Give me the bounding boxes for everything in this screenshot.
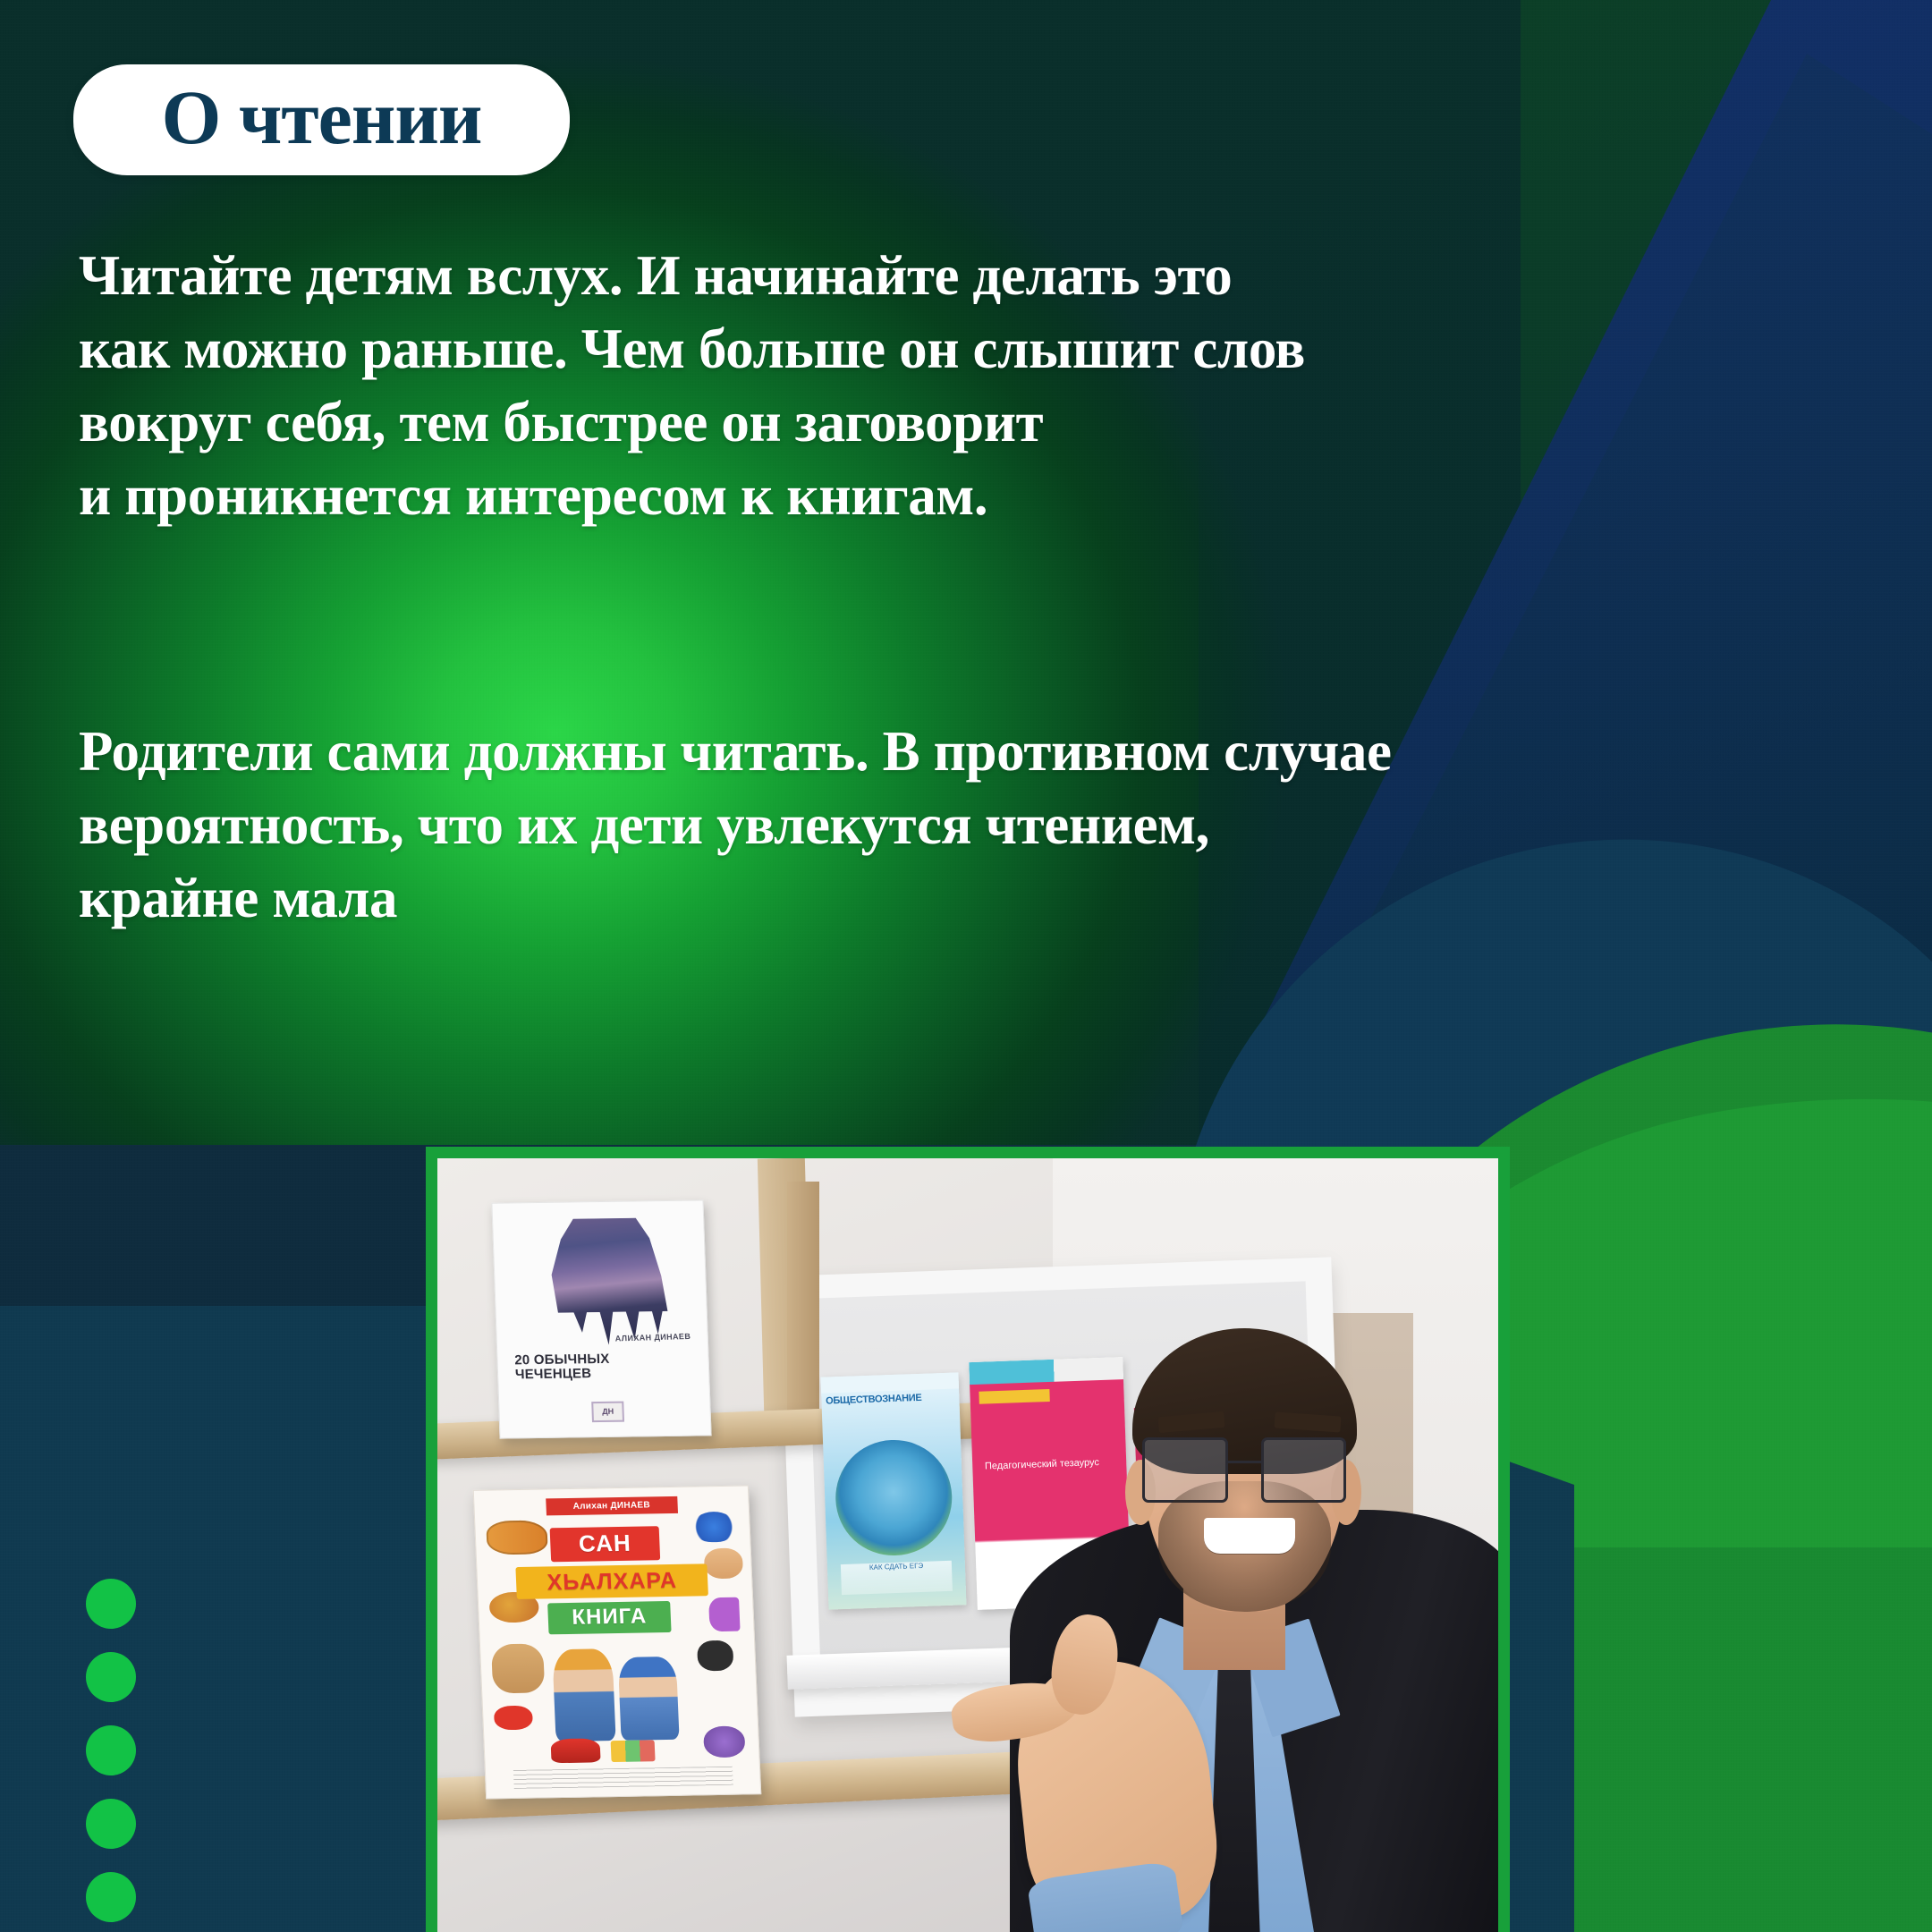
dot-indicator [86, 1799, 136, 1849]
toy-blocks-sticker [611, 1740, 656, 1762]
toy-car-sticker [550, 1738, 600, 1763]
page-title: О чтении [162, 77, 482, 157]
key-sticker [709, 1597, 741, 1631]
book-title-word-2: ХЬАЛХАРА [516, 1563, 709, 1599]
book-title-line-1: 20 ОБЫЧНЫХ [514, 1351, 610, 1367]
photo-bookshelf-person: ОБЩЕСТВОЗНАНИЕ КАК СДАТЬ ЕГЭ Педагогичес… [437, 1158, 1498, 1932]
dot-indicator [86, 1652, 136, 1702]
publisher-logo: ДН [592, 1401, 624, 1422]
book-title-word-3: КНИГА [547, 1601, 672, 1634]
title-badge: О чтении [73, 64, 570, 175]
book-san-hyalhara-kniga: Алихан ДИНАЕВ САН ХЬАЛХАРА КНИГА [473, 1485, 762, 1799]
child-photo-right [618, 1657, 679, 1741]
book-title: ОБЩЕСТВОЗНАНИЕ [826, 1391, 955, 1406]
body-paragraph-2: Родители сами должны читать. В противном… [79, 716, 1877, 936]
photo-frame: ОБЩЕСТВОЗНАНИЕ КАК СДАТЬ ЕГЭ Педагогичес… [426, 1147, 1510, 1932]
book-subtitle: КАК СДАТЬ ЕГЭ [841, 1561, 952, 1595]
dot-indicator [86, 1725, 136, 1775]
book-social-studies: ОБЩЕСТВОЗНАНИЕ КАК СДАТЬ ЕГЭ [820, 1373, 966, 1610]
tiger-sticker [487, 1520, 548, 1555]
cat-sticker [704, 1547, 743, 1579]
beetle-sticker [697, 1640, 733, 1671]
cover-footnote [513, 1766, 733, 1788]
book-title: 20 ОБЫЧНЫХ ЧЕЧЕНЦЕВ [514, 1351, 696, 1383]
cover-illustration [539, 1217, 674, 1345]
globe-illustration [834, 1438, 953, 1558]
book-author: АЛИХАН ДИНАЕВ [615, 1331, 691, 1343]
teddy-bear-sticker [492, 1643, 547, 1693]
glasses-bridge [1228, 1461, 1260, 1463]
butterfly-sticker [691, 1511, 736, 1542]
body-paragraph-1: Читайте детям вслух. И начинайте делать … [79, 240, 1707, 533]
dot-indicator [86, 1579, 136, 1629]
ribbon-sticker [495, 1705, 534, 1730]
book-20-ordinary-chechens: АЛИХАН ДИНАЕВ 20 ОБЫЧНЫХ ЧЕЧЕНЦЕВ ДН [492, 1199, 712, 1438]
book-author: Алихан ДИНАЕВ [546, 1496, 678, 1515]
book-cover-band [820, 1373, 959, 1394]
flower-sticker [704, 1725, 746, 1757]
book-title-word-1: САН [550, 1526, 661, 1562]
poster-canvas: О чтении Читайте детям вслух. И начинайт… [0, 0, 1932, 1932]
dot-indicator [86, 1872, 136, 1922]
smile [1204, 1518, 1295, 1555]
book-title-line-2: ЧЕЧЕНЦЕВ [515, 1366, 592, 1382]
wood-divider-2 [787, 1182, 819, 1414]
dot-indicator-group [86, 1579, 136, 1922]
child-photo-left [552, 1648, 616, 1741]
